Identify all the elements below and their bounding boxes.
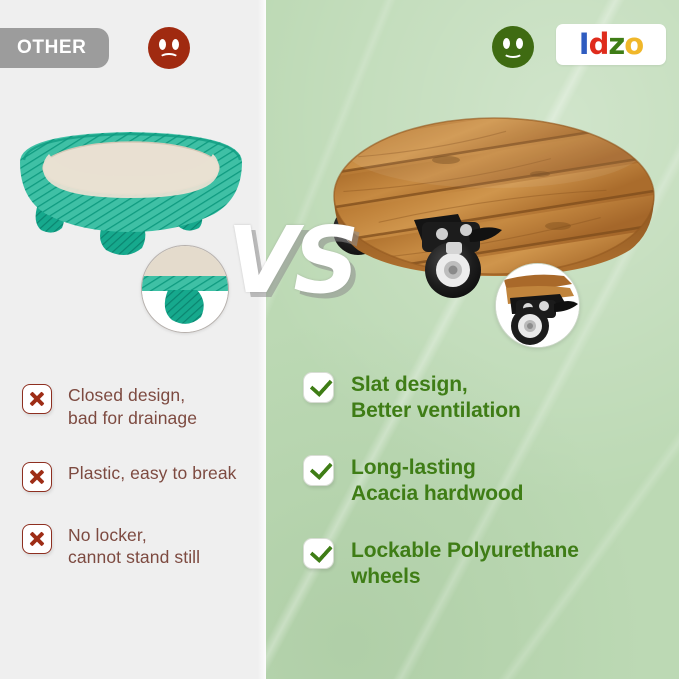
cons-list: Closed design, bad for drainage Plastic,… — [22, 384, 272, 601]
list-item: Closed design, bad for drainage — [22, 384, 272, 430]
sad-face-eye-right — [172, 39, 179, 50]
plastic-caddy-illustration — [14, 122, 254, 272]
lockable-caster-inset — [495, 263, 580, 348]
cons-item-label: No locker, cannot stand still — [68, 524, 200, 570]
sad-face-icon — [148, 27, 190, 69]
pros-item-label: Long-lasting Acacia hardwood — [351, 455, 523, 506]
brand-letter-4: o — [624, 27, 643, 61]
list-item: Long-lasting Acacia hardwood — [303, 455, 663, 506]
cons-item-label: Closed design, bad for drainage — [68, 384, 197, 430]
brand-letter-1: I — [579, 27, 589, 61]
x-mark-icon — [22, 384, 52, 414]
other-badge: OTHER — [0, 28, 109, 68]
plastic-caddy-foot-inset-art — [142, 246, 229, 333]
check-mark-icon — [303, 455, 334, 486]
list-item: No locker, cannot stand still — [22, 524, 272, 570]
pros-item-label: Slat design, Better ventilation — [351, 372, 521, 423]
check-mark-icon — [303, 372, 334, 403]
happy-face-icon — [492, 26, 534, 68]
comparison-infographic: OTHER Idzo — [0, 0, 679, 679]
x-mark-icon — [22, 462, 52, 492]
list-item: Slat design, Better ventilation — [303, 372, 663, 423]
happy-face-smile — [503, 47, 523, 58]
pros-list: Slat design, Better ventilation Long-las… — [303, 372, 663, 622]
plastic-caddy-foot-inset — [141, 245, 229, 333]
wooden-caddy-illustration — [326, 108, 662, 326]
brand-letter-3: z — [608, 27, 624, 61]
list-item: Lockable Polyurethane wheels — [303, 538, 663, 589]
check-mark-icon — [303, 538, 334, 569]
vs-label: VS — [227, 215, 354, 307]
sad-face-eye-left — [159, 39, 166, 50]
brand-logo-text: Idzo — [579, 30, 643, 59]
brand-letter-2: d — [589, 27, 609, 61]
other-badge-label: OTHER — [17, 37, 87, 59]
lockable-caster-inset-art — [496, 264, 580, 348]
brand-logo: Idzo — [556, 24, 666, 65]
cons-item-label: Plastic, easy to break — [68, 462, 237, 485]
list-item: Plastic, easy to break — [22, 462, 272, 492]
pros-item-label: Lockable Polyurethane wheels — [351, 538, 579, 589]
x-mark-icon — [22, 524, 52, 554]
sad-face-frown — [159, 53, 179, 64]
